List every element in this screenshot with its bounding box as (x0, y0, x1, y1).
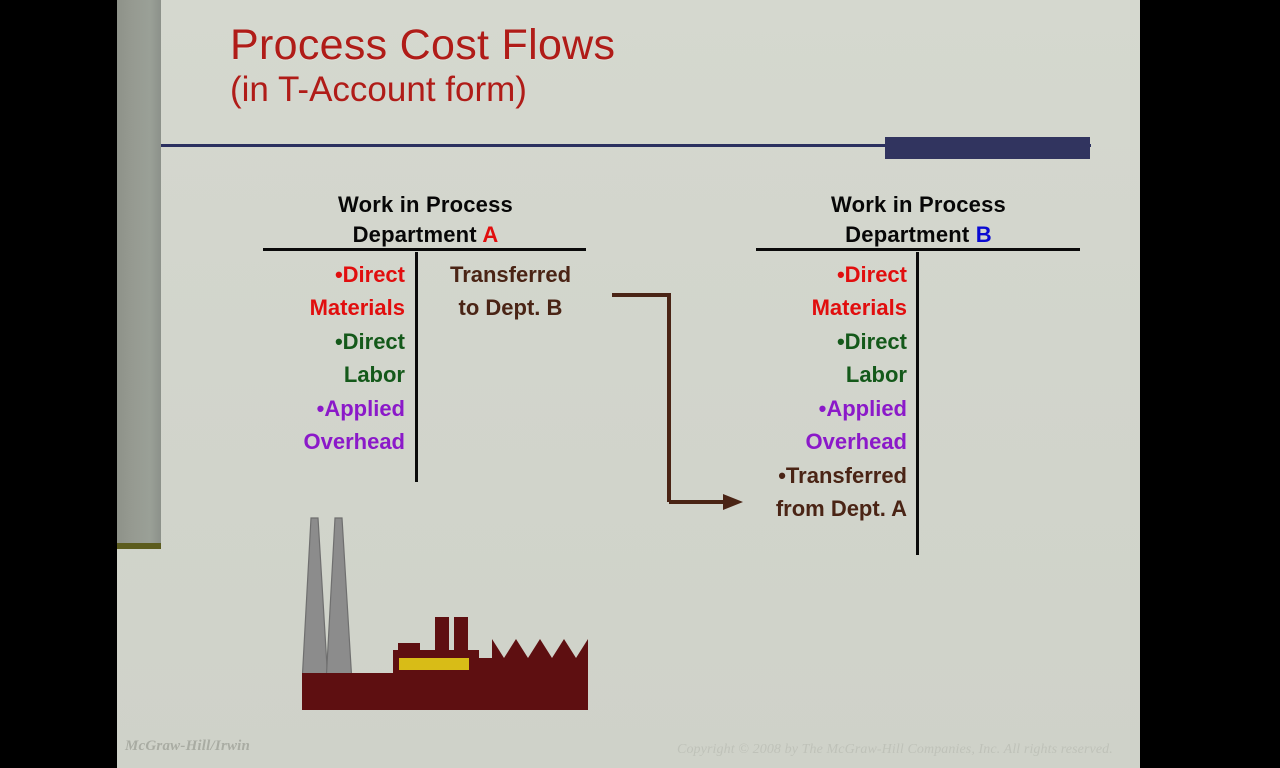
t-account-a-debit-column: •Direct Materials •Direct Labor •Applied… (257, 258, 405, 459)
footer-brand: McGraw-Hill/Irwin (125, 738, 250, 755)
page-title: Process Cost Flows (in T-Account form) (230, 22, 990, 110)
t-account-a-heading-prefix: Department (353, 222, 483, 247)
title-divider-block (885, 137, 1090, 159)
t-account-b-top-rule (756, 248, 1080, 251)
footer-copyright: Copyright © 2008 by The McGraw-Hill Comp… (677, 742, 1113, 758)
list-item: •Applied (257, 392, 405, 425)
t-account-a-heading: Work in Process Department A (263, 190, 588, 249)
t-account-a-letter: A (482, 222, 498, 247)
list-item: Overhead (257, 425, 405, 458)
t-account-a-credit-column: Transferred to Dept. B (423, 258, 598, 325)
list-item: •Direct (257, 325, 405, 358)
slide-stage: Process Cost Flows (in T-Account form) W… (0, 0, 1280, 768)
left-decorative-band (117, 0, 161, 543)
t-account-b-heading: Work in Process Department B (756, 190, 1081, 249)
list-item: •Direct (257, 258, 405, 291)
title-line-1: Process Cost Flows (230, 22, 990, 68)
transfer-arrow-icon (597, 280, 857, 525)
list-item: Materials (257, 291, 405, 324)
t-account-b-heading-prefix: Department (845, 222, 976, 247)
list-item: Labor (257, 358, 405, 391)
t-account-b-heading-line2: Department B (756, 220, 1081, 250)
slide-canvas: Process Cost Flows (in T-Account form) W… (117, 0, 1140, 768)
t-account-b-heading-line1: Work in Process (756, 190, 1081, 220)
title-line-2: (in T-Account form) (230, 70, 990, 109)
list-item: Transferred (423, 258, 598, 291)
t-account-department-a: Work in Process Department A (263, 190, 588, 249)
t-account-b-divider (916, 252, 919, 555)
t-account-a-top-rule (263, 248, 586, 251)
list-item: to Dept. B (423, 291, 598, 324)
left-band-accent-bar (117, 543, 161, 549)
t-account-a-heading-line2: Department A (263, 220, 588, 250)
t-account-a-divider (415, 252, 418, 482)
factory-icon (302, 508, 612, 713)
t-account-b-letter: B (976, 222, 992, 247)
t-account-a-heading-line1: Work in Process (263, 190, 588, 220)
t-account-department-b: Work in Process Department B (756, 190, 1081, 249)
